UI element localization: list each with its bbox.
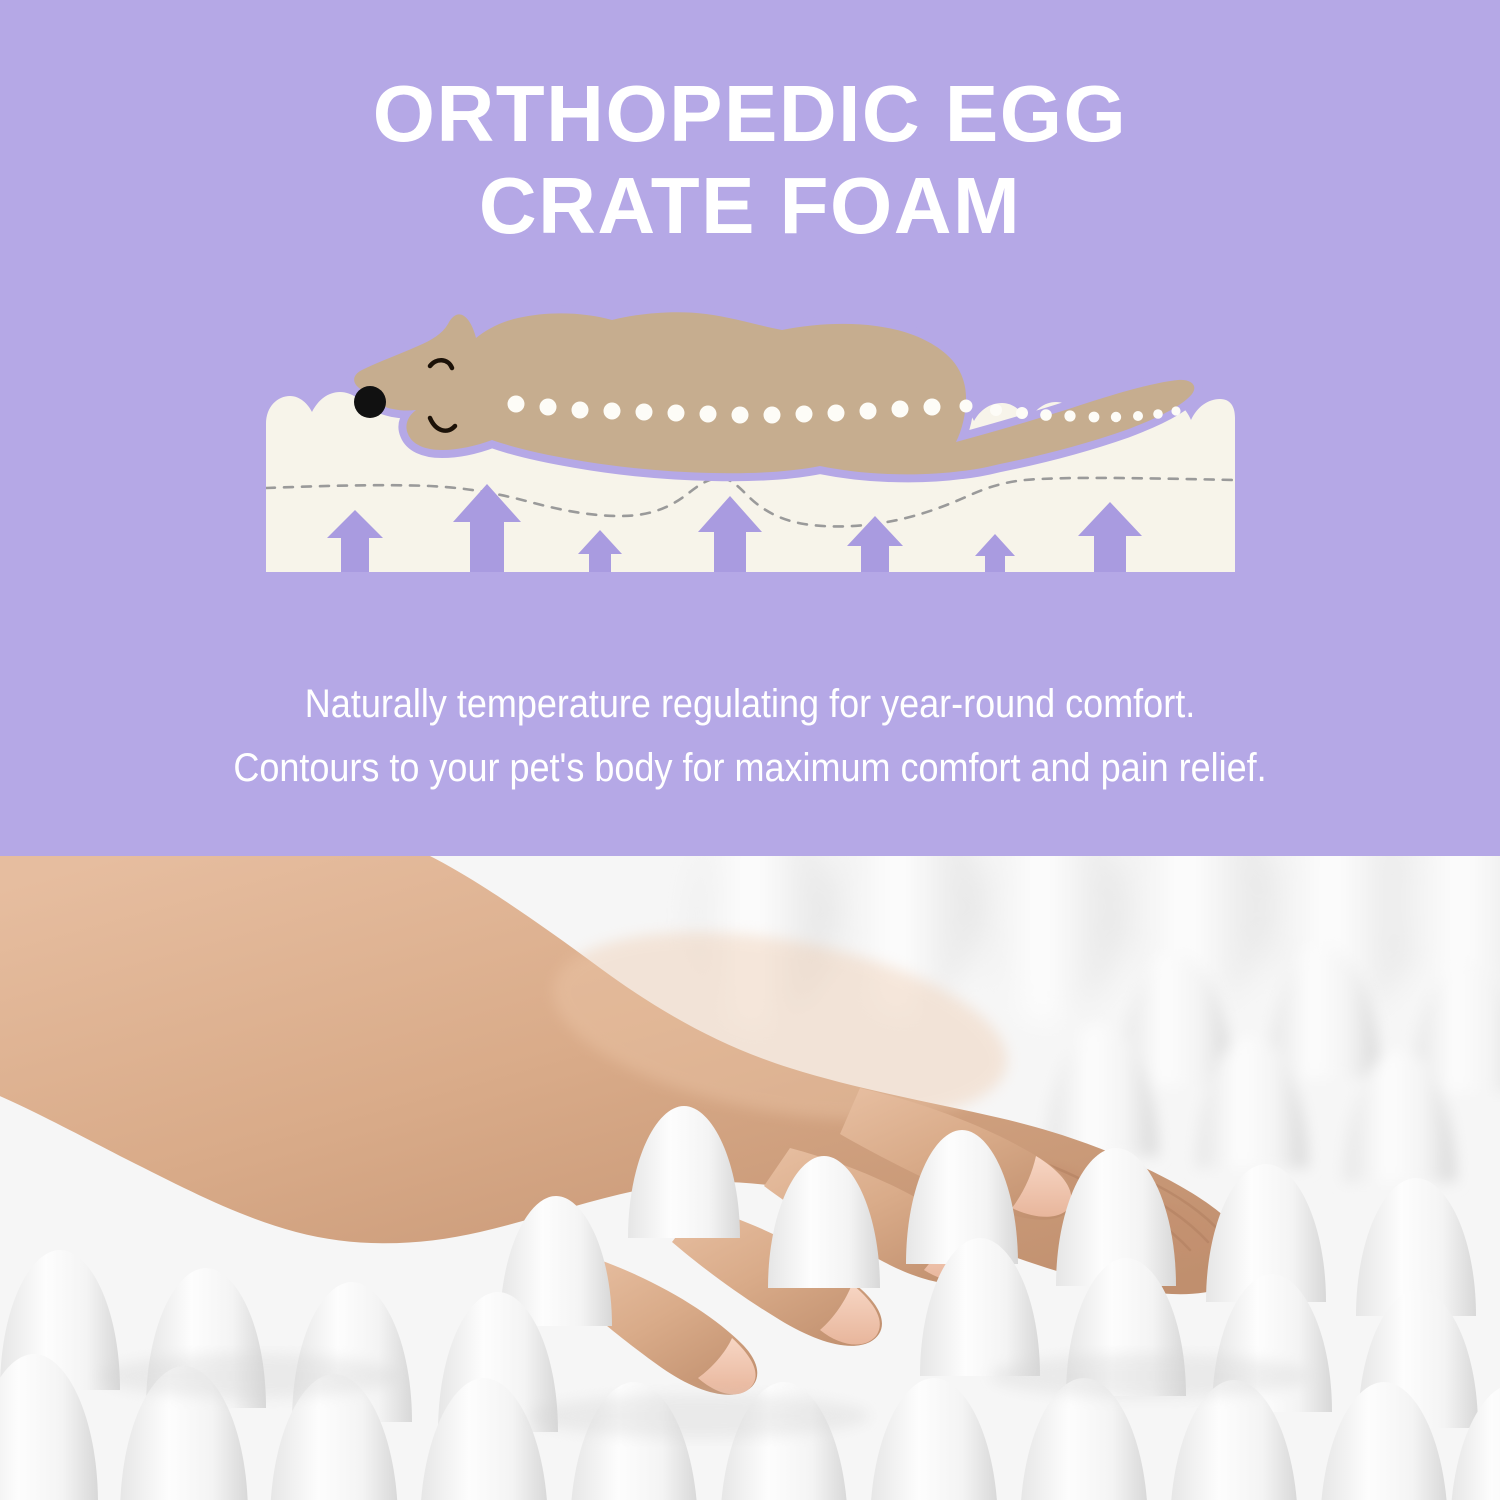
subtitle-line-1: Naturally temperature regulating for yea… xyxy=(75,672,1425,736)
foam-support-illustration xyxy=(0,280,1500,600)
subtitle-line-2: Contours to your pet's body for maximum … xyxy=(75,736,1425,800)
page-title: ORTHOPEDIC EGG CRATE FOAM xyxy=(0,68,1500,252)
dog-illustration xyxy=(354,312,1194,474)
dog-nose-icon xyxy=(354,386,386,418)
top-purple-panel: ORTHOPEDIC EGG CRATE FOAM xyxy=(0,0,1500,856)
product-infographic: ORTHOPEDIC EGG CRATE FOAM xyxy=(0,0,1500,1500)
product-photo-hand-on-foam xyxy=(0,856,1500,1500)
subtitle-block: Naturally temperature regulating for yea… xyxy=(75,672,1425,800)
